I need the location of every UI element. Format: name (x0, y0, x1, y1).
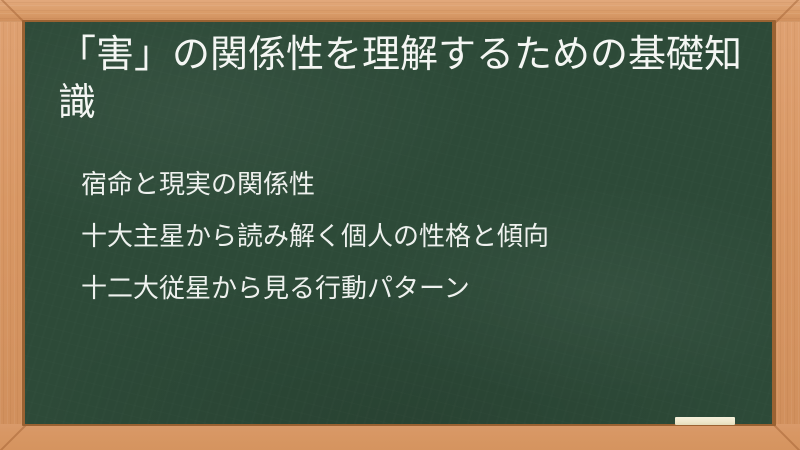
list-item: 十大主星から読み解く個人の性格と傾向 (81, 211, 771, 263)
chalkboard-surface: 「害」の関係性を理解するための基礎知識 宿命と現実の関係性 十大主星から読み解く… (25, 22, 772, 424)
slide-bullet-list: 宿命と現実の関係性 十大主星から読み解く個人の性格と傾向 十二大従星から見る行動… (81, 159, 771, 315)
slide-title: 「害」の関係性を理解するための基礎知識 (58, 30, 758, 127)
list-item: 十二大従星から見る行動パターン (81, 263, 771, 315)
chalk-stick-icon (675, 417, 735, 425)
slide-screenshot: 「害」の関係性を理解するための基礎知識 宿命と現実の関係性 十大主星から読み解く… (0, 0, 800, 450)
frame-rail-top (0, 0, 800, 22)
list-item: 宿命と現実の関係性 (81, 159, 771, 211)
frame-rail-bottom (0, 424, 800, 450)
